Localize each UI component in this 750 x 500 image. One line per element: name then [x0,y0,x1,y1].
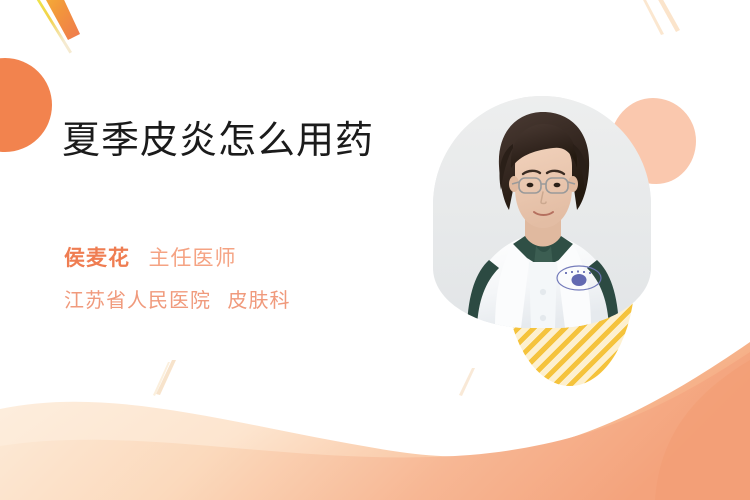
thin-line-bottom-center-icon [153,360,176,396]
thin-lines-top-right-icon [641,0,680,35]
doctor-title-rank: 主任医师 [148,247,236,270]
doctor-credit-line: 侯麦花 主任医师 [64,248,236,269]
doctor-hospital: 江苏省人民医院 [64,290,211,312]
doctor-portrait-illustration [433,96,651,328]
page-title: 夏季皮炎怎么用药 [62,118,374,166]
doctor-name: 侯麦花 [64,247,130,270]
wave-bottom-highlight [655,360,750,500]
doctor-portrait-photo [433,96,651,328]
orange-circle-left-icon [0,58,52,152]
thin-line-top-left-icon [27,0,72,54]
doctor-video-cover-card: 夏季皮炎怎么用药 侯麦花 主任医师 江苏省人民医院 皮肤科 [0,0,750,500]
corner-stripe-top-left-icon [32,0,80,40]
doctor-affiliation-line: 江苏省人民医院 皮肤科 [64,291,290,311]
doctor-photo-zone [420,78,660,378]
doctor-department: 皮肤科 [227,290,290,312]
